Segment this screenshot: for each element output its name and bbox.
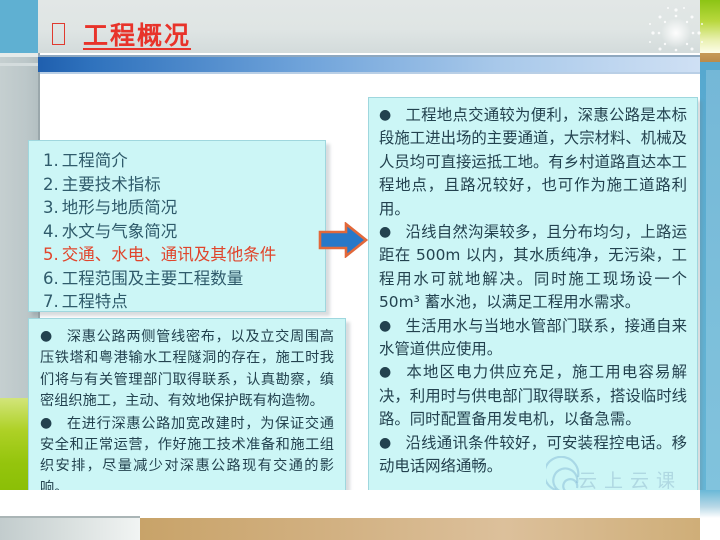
left-sidebar-second-line-decor (0, 63, 38, 66)
slide-canvas: 工程概况 1.工程简介 2.主要技术指标 3.地形与地质简况 4.水文与气象简况… (0, 0, 720, 540)
note-paragraph-text: 在进行深惠公路加宽改建时，为保证交通安全和正常运营，作好施工技术准备和施工组织安… (40, 416, 334, 496)
bullet-icon: ● (379, 318, 391, 334)
content-paragraph: ●本地区电力供应充足，施工用电容易解决，利用时与供电部门取得联系，搭设临时线路。… (379, 361, 687, 431)
content-paragraph: ●生活用水与当地水管部门联系，接通自来水管道供应使用。 (379, 315, 687, 362)
title-bullet-icon (52, 23, 65, 45)
list-item-label: 地形与地质简况 (62, 198, 178, 217)
list-item[interactable]: 2.主要技术指标 (43, 173, 315, 197)
bullet-icon: ● (379, 107, 391, 123)
content-paragraph: ●沿线自然沟渠较多，且分布均匀，上路运距在 500m 以内，其水质纯净，无污染，… (379, 221, 687, 315)
content-paragraph-text: 沿线通讯条件较好，可安装程控电话。移动电话网络通畅。 (379, 434, 687, 475)
list-item-label: 交通、水电、通讯及其他条件 (62, 245, 277, 264)
list-item-label: 工程简介 (62, 151, 128, 170)
list-item-number: 7. (43, 292, 59, 311)
list-item-number: 3. (43, 198, 59, 217)
bottom-right-blue-fade-decor (700, 490, 720, 518)
note-paragraph-text: 深惠公路两侧管线密布，以及立交周围高压铁塔和粤港输水工程隧洞的存在，施工时我们将… (40, 329, 334, 409)
bullet-icon: ● (379, 435, 391, 451)
right-arrow-icon (318, 222, 368, 258)
left-sidebar-highlight-line-decor (0, 53, 38, 57)
list-item-number: 1. (43, 151, 59, 170)
outline-list-box: 1.工程简介 2.主要技术指标 3.地形与地质简况 4.水文与气象简况 5.交通… (28, 140, 326, 312)
list-item-active[interactable]: 5.交通、水电、通讯及其他条件 (43, 243, 315, 267)
content-paragraph-text: 工程地点交通较为便利，深惠公路是本标段施工进出场的主要通道，大宗材料、机械及人员… (379, 106, 687, 218)
page-title: 工程概况 (83, 16, 191, 52)
bullet-icon: ● (40, 415, 53, 431)
list-item[interactable]: 7.工程特点 (43, 290, 315, 314)
list-item-label: 水文与气象简况 (62, 222, 178, 241)
content-paragraph-text: 沿线自然沟渠较多，且分布均匀，上路运距在 500m 以内，其水质纯净，无污染，工… (379, 223, 687, 311)
list-item-number: 5. (43, 245, 59, 264)
header-underline (40, 72, 700, 74)
list-item-label: 主要技术指标 (62, 175, 161, 194)
list-item[interactable]: 3.地形与地质简况 (43, 196, 315, 220)
content-paragraph: ●工程地点交通较为便利，深惠公路是本标段施工进出场的主要通道，大宗材料、机械及人… (379, 104, 687, 221)
header-bar (38, 57, 700, 72)
list-item[interactable]: 6.工程范围及主要工程数量 (43, 267, 315, 291)
bullet-icon: ● (379, 364, 392, 380)
bottom-gray-strip-decor (0, 518, 140, 540)
right-blue-overlay-decor (706, 70, 720, 490)
bottom-right-corner-decor (700, 518, 720, 540)
list-item-number: 6. (43, 269, 59, 288)
left-note-box: ●深惠公路两侧管线密布，以及立交周围高压铁塔和粤港输水工程隧洞的存在，施工时我们… (28, 318, 346, 500)
list-item[interactable]: 1.工程简介 (43, 149, 315, 173)
list-item-number: 4. (43, 222, 59, 241)
content-paragraph-text: 生活用水与当地水管部门联系，接通自来水管道供应使用。 (379, 317, 687, 358)
right-content-box: ●工程地点交通较为便利，深惠公路是本标段施工进出场的主要通道，大宗材料、机械及人… (368, 97, 698, 519)
content-paragraph-text: 本地区电力供应充足，施工用电容易解决，利用时与供电部门取得联系，搭设临时线路。同… (379, 363, 687, 428)
top-right-green-gradient-decor (700, 0, 720, 53)
list-item[interactable]: 4.水文与气象简况 (43, 220, 315, 244)
top-left-blue-block-decor (0, 0, 38, 53)
bottom-tan-strip-decor (140, 518, 700, 540)
content-paragraph: ●沿线通讯条件较好，可安装程控电话。移动电话网络通畅。 (379, 432, 687, 479)
list-item-label: 工程特点 (62, 292, 128, 311)
note-paragraph: ●在进行深惠公路加宽改建时，为保证交通安全和正常运营，作好施工技术准备和施工组织… (40, 413, 334, 500)
note-paragraph: ●深惠公路两侧管线密布，以及立交周围高压铁塔和粤港输水工程隧洞的存在，施工时我们… (40, 326, 334, 413)
page-title-row: 工程概况 (52, 16, 191, 52)
bullet-icon: ● (40, 328, 53, 344)
list-item-number: 2. (43, 175, 59, 194)
list-item-label: 工程范围及主要工程数量 (62, 269, 244, 288)
bullet-icon: ● (379, 224, 391, 240)
